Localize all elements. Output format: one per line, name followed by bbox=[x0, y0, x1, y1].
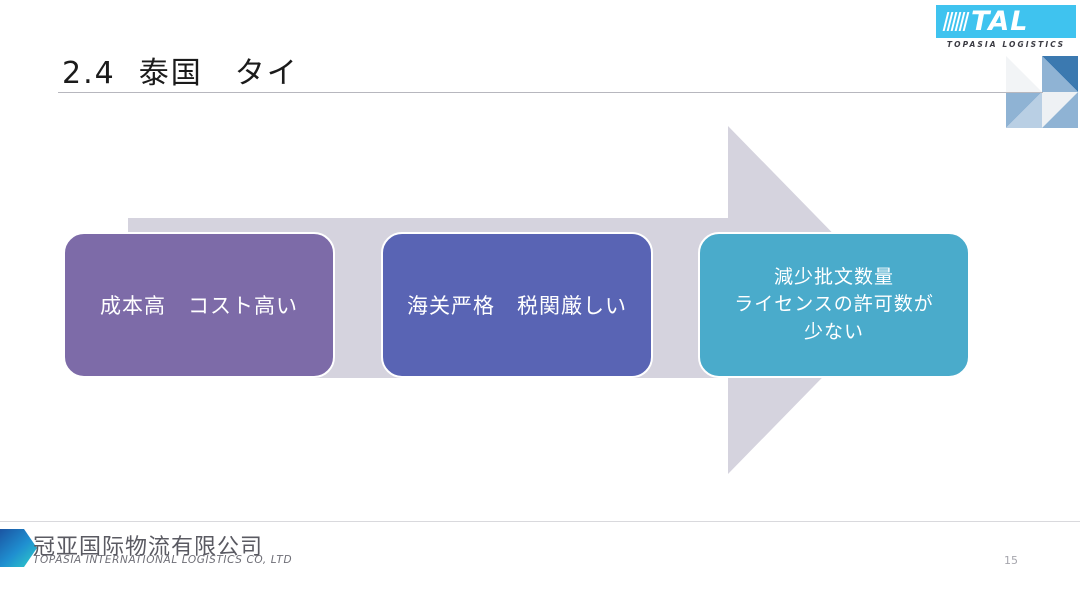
process-box-cost-line-1: 成本高 コスト高い bbox=[75, 290, 323, 320]
logo-stripes-icon bbox=[945, 12, 967, 31]
footer-divider bbox=[0, 521, 1080, 522]
logo-wordmark: TAL bbox=[971, 8, 1028, 35]
triangle-cell-bottom-left bbox=[1006, 92, 1042, 128]
triangle-cell-top-right bbox=[1042, 56, 1078, 92]
process-box-group: 成本高 コスト高い 海关严格 税関厳しい 減少批文数量 ライセンスの許可数が 少… bbox=[0, 232, 1080, 380]
tal-logo: TAL TOPASIA LOGISTICS bbox=[928, 0, 1080, 58]
process-box-license-text: 減少批文数量 ライセンスの許可数が 少ない bbox=[710, 264, 958, 347]
triangle-cell-top-left bbox=[1006, 56, 1042, 92]
triangle-cell-bottom-right bbox=[1042, 92, 1078, 128]
process-box-license-line-2: ライセンスの許可数が bbox=[710, 291, 958, 319]
process-box-license-line-1: 減少批文数量 bbox=[710, 264, 958, 292]
process-box-cost-text: 成本高 コスト高い bbox=[75, 290, 323, 320]
page-number: 15 bbox=[1004, 554, 1018, 567]
title-divider bbox=[58, 92, 1043, 93]
process-box-customs[interactable]: 海关严格 税関厳しい bbox=[381, 232, 653, 378]
process-box-license-line-3: 少ない bbox=[710, 319, 958, 347]
process-box-cost[interactable]: 成本高 コスト高い bbox=[63, 232, 335, 378]
logo-banner: TAL bbox=[936, 5, 1076, 38]
footer-company-en: TOPASIA INTERNATIONAL LOGISTICS CO, LTD bbox=[33, 554, 292, 566]
page-title: 2.4 泰国 タイ bbox=[62, 48, 299, 92]
process-box-license[interactable]: 減少批文数量 ライセンスの許可数が 少ない bbox=[698, 232, 970, 378]
process-box-customs-text: 海关严格 税関厳しい bbox=[393, 290, 641, 320]
slide-canvas: TAL TOPASIA LOGISTICS bbox=[0, 0, 1080, 610]
process-box-customs-line-1: 海关严格 税関厳しい bbox=[393, 290, 641, 320]
logo-tagline: TOPASIA LOGISTICS bbox=[936, 40, 1076, 49]
